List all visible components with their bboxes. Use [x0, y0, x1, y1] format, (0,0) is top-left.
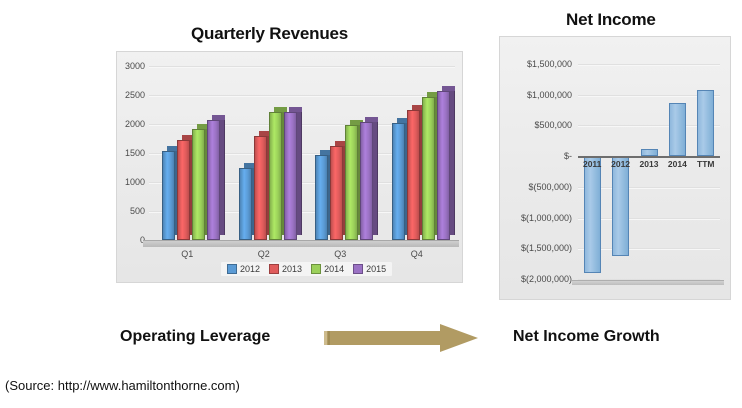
- revenue-bar: [239, 168, 252, 241]
- legend-item: 2013: [269, 264, 302, 274]
- y-axis-tick-label: 500: [119, 206, 145, 216]
- gridline: [149, 66, 455, 67]
- net-income-growth-label: Net Income Growth: [513, 328, 660, 346]
- x-axis-tick-label: Q3: [302, 249, 379, 259]
- y-axis-tick-label: $1,000,000: [504, 90, 572, 100]
- y-axis-tick-label: 1000: [119, 177, 145, 187]
- y-axis-tick-label: 0: [119, 235, 145, 245]
- zero-axis-line: [578, 156, 720, 158]
- legend-label: 2014: [324, 264, 344, 274]
- revenue-bar: [360, 122, 373, 240]
- revenue-bar: [177, 140, 190, 240]
- quarterly-revenues-chart: 2012201320142015 30002500200015001000500…: [116, 51, 463, 283]
- y-axis-tick-label: $(500,000): [504, 182, 572, 192]
- y-axis-tick-label: $500,000: [504, 120, 572, 130]
- legend-label: 2012: [240, 264, 260, 274]
- revenue-bar: [437, 91, 450, 240]
- net-income-bar: [584, 156, 601, 273]
- net-income-chart: $1,500,000$1,000,000$500,000$-$(500,000)…: [499, 36, 731, 300]
- y-axis-tick-label: 3000: [119, 61, 145, 71]
- revenue-bar: [345, 125, 358, 240]
- net-income-bar: [669, 103, 686, 156]
- legend-label: 2013: [282, 264, 302, 274]
- quarterly-revenues-legend: 2012201320142015: [221, 262, 392, 276]
- source-note: (Source: http://www.hamiltonthorne.com): [5, 378, 240, 393]
- y-axis-tick-label: $(1,500,000): [504, 243, 572, 253]
- figure-canvas: Quarterly Revenues 2012201320142015 3000…: [0, 0, 742, 408]
- legend-swatch: [311, 264, 321, 274]
- y-axis-tick-label: 2000: [119, 119, 145, 129]
- legend-swatch: [269, 264, 279, 274]
- revenue-bar: [284, 112, 297, 240]
- operating-leverage-label: Operating Leverage: [120, 328, 270, 346]
- revenue-bar: [315, 155, 328, 240]
- revenue-bar: [407, 110, 420, 241]
- y-axis-tick-label: $1,500,000: [504, 59, 572, 69]
- revenue-bar: [162, 151, 175, 240]
- x-axis-tick-label: TTM: [690, 159, 722, 169]
- y-axis-tick-label: 1500: [119, 148, 145, 158]
- revenue-bar: [192, 129, 205, 240]
- gridline: [149, 95, 455, 96]
- chart-floor: [572, 280, 724, 285]
- revenue-bar: [422, 97, 435, 240]
- revenue-bar: [207, 120, 220, 240]
- x-axis-tick-label: Q4: [379, 249, 456, 259]
- legend-item: 2012: [227, 264, 260, 274]
- net-income-plot-area: [578, 64, 720, 279]
- legend-label: 2015: [366, 264, 386, 274]
- chart-floor: [143, 240, 459, 247]
- quarterly-revenues-plot-area: [149, 66, 455, 240]
- legend-swatch: [353, 264, 363, 274]
- net-income-bar: [697, 90, 714, 156]
- x-axis-tick-label: Q2: [226, 249, 303, 259]
- legend-item: 2014: [311, 264, 344, 274]
- gridline: [578, 64, 720, 65]
- quarterly-revenues-title: Quarterly Revenues: [191, 24, 348, 44]
- y-axis-tick-label: 2500: [119, 90, 145, 100]
- legend-swatch: [227, 264, 237, 274]
- revenue-bar: [330, 146, 343, 240]
- x-axis-tick-label: Q1: [149, 249, 226, 259]
- flow-arrow: [322, 324, 480, 356]
- y-axis-tick-label: $(1,000,000): [504, 213, 572, 223]
- revenue-bar: [392, 123, 405, 240]
- net-income-title: Net Income: [566, 10, 656, 30]
- y-axis-tick-label: $(2,000,000): [504, 274, 572, 284]
- net-income-bar: [641, 149, 658, 156]
- right-arrow-icon: [322, 324, 480, 356]
- y-axis-tick-label: $-: [504, 151, 572, 161]
- revenue-bar: [254, 136, 267, 240]
- revenue-bar: [269, 112, 282, 240]
- legend-item: 2015: [353, 264, 386, 274]
- net-income-bar: [612, 156, 629, 256]
